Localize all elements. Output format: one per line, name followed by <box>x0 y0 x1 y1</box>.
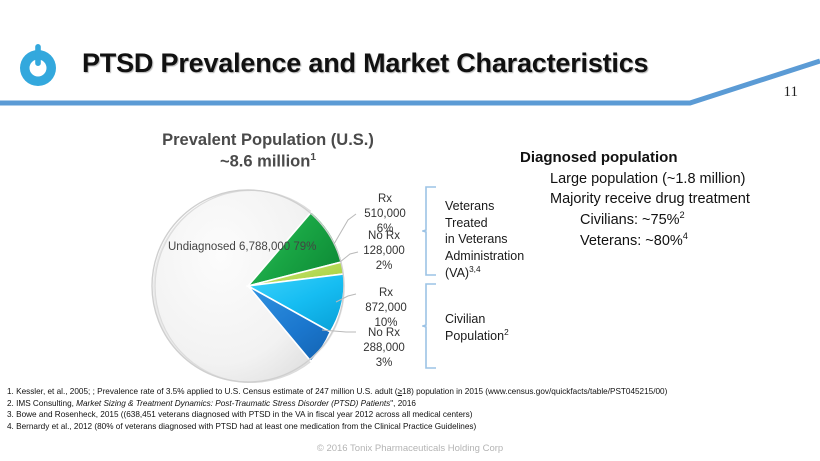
undiagnosed-name: Undiagnosed <box>168 241 236 253</box>
brace-veterans <box>422 186 440 276</box>
veterans-rate-label: Veterans: ~80% <box>580 232 683 248</box>
chart-title-footnote-ref: 1 <box>310 152 316 163</box>
chart-title-line1: Prevalent Population (U.S.) <box>162 131 374 149</box>
civilian-norx-percent: 3% <box>352 356 416 371</box>
callout-civilian-norx: No Rx 288,000 3% <box>352 326 416 372</box>
diagnosed-population-heading: Diagnosed population <box>520 148 816 169</box>
chart-title: Prevalent Population (U.S.) ~8.6 million… <box>118 130 418 173</box>
civilians-rate-label: Civilians: ~75% <box>580 212 680 228</box>
veterans-label-line5: (VA)3,4 <box>445 265 524 282</box>
callout-civilian-rx: Rx 872,000 10% <box>355 286 417 332</box>
diagnosed-population-veterans: Veterans: ~80%4 <box>520 230 816 251</box>
header-accent-rule <box>0 58 820 106</box>
diagnosed-population-line2: Majority receive drug treatment <box>520 189 816 209</box>
veterans-norx-value: 128,000 <box>352 244 416 259</box>
veterans-label-line1: Veterans <box>445 198 524 215</box>
footnote-2-part-b: ", 2016 <box>390 399 416 408</box>
ptsd-prevalence-pie-chart <box>148 186 348 386</box>
veterans-rx-name: Rx <box>355 192 415 207</box>
chart-title-line2: ~8.6 million <box>220 153 310 171</box>
civilian-norx-value: 288,000 <box>352 341 416 356</box>
civilian-label-line2: Population2 <box>445 328 509 345</box>
footnotes: 1. Kessler, et al., 2005; ; Prevalence r… <box>7 386 813 433</box>
brace-civilian <box>422 283 440 369</box>
veterans-label-line3: in Veterans <box>445 231 524 248</box>
footnote-1-part-a: 1. Kessler, et al., 2005; ; Prevalence r… <box>7 387 397 396</box>
civilians-rate-footnote-ref: 2 <box>680 210 685 220</box>
civilian-rx-value: 872,000 <box>355 301 417 316</box>
diagnosed-population-line1: Large population (~1.8 million) <box>520 169 816 189</box>
undiagnosed-percent: 79% <box>293 241 316 253</box>
callout-veterans-norx: No Rx 128,000 2% <box>352 229 416 275</box>
footnote-4: 4. Bernardy et al., 2012 (80% of veteran… <box>7 421 813 433</box>
group-label-civilian: Civilian Population2 <box>445 311 509 344</box>
veterans-rx-value: 510,000 <box>355 207 415 222</box>
footnote-2-part-a: 2. IMS Consulting, <box>7 399 76 408</box>
civilian-label-line1: Civilian <box>445 311 509 328</box>
footnote-1-part-b: 18) population in 2015 (www.census.gov/q… <box>402 387 667 396</box>
footnote-1: 1. Kessler, et al., 2005; ; Prevalence r… <box>7 386 813 398</box>
undiagnosed-value: 6,788,000 <box>239 241 290 253</box>
veterans-norx-percent: 2% <box>352 259 416 274</box>
footnote-2: 2. IMS Consulting, Market Sizing & Treat… <box>7 398 813 410</box>
footnote-2-title: Market Sizing & Treatment Dynamics: Post… <box>76 399 390 408</box>
diagnosed-population-block: Diagnosed population Large population (~… <box>520 148 816 250</box>
diagnosed-population-civilians: Civilians: ~75%2 <box>520 209 816 230</box>
slide-root: PTSD Prevalence and Market Characteristi… <box>0 0 820 461</box>
group-label-veterans: Veterans Treated in Veterans Administrat… <box>445 198 524 281</box>
pie-label-undiagnosed: Undiagnosed 6,788,000 79% <box>168 240 288 256</box>
civilian-label-footnote-ref: 2 <box>504 328 509 337</box>
veterans-label-va: (VA) <box>445 266 469 280</box>
copyright-notice: © 2016 Tonix Pharmaceuticals Holding Cor… <box>0 443 820 454</box>
veterans-norx-name: No Rx <box>352 229 416 244</box>
civilian-norx-name: No Rx <box>352 326 416 341</box>
civilian-label-population: Population <box>445 329 504 343</box>
veterans-label-line2: Treated <box>445 215 524 232</box>
veterans-label-footnote-ref: 3,4 <box>469 265 480 274</box>
veterans-label-line4: Administration <box>445 248 524 265</box>
footnote-3: 3. Bowe and Rosenheck, 2015 ((638,451 ve… <box>7 409 813 421</box>
civilian-rx-name: Rx <box>355 286 417 301</box>
page-number: 11 <box>784 84 798 101</box>
veterans-rate-footnote-ref: 4 <box>683 231 688 241</box>
